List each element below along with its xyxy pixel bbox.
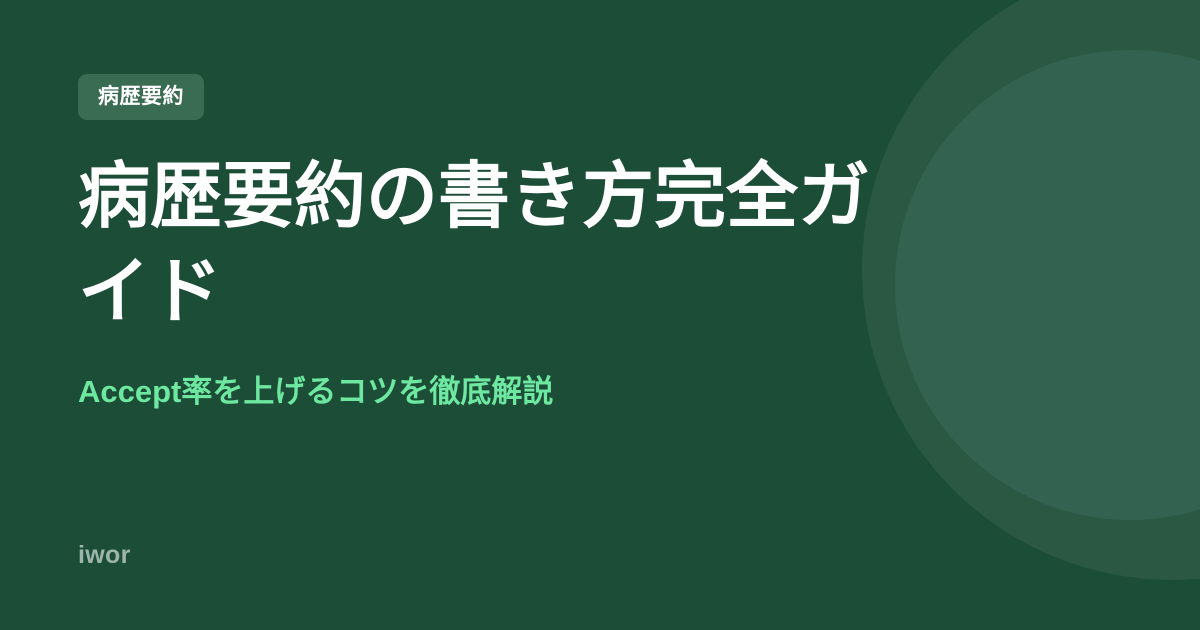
site-name-footer: iwor <box>78 543 1200 568</box>
category-badge: 病歴要約 <box>78 74 204 120</box>
page-subtitle: Accept率を上げるコツを徹底解説 <box>78 370 918 413</box>
page-title: 病歴要約の書き方完全ガイド <box>78 150 893 340</box>
card-content: 病歴要約 病歴要約の書き方完全ガイド Accept率を上げるコツを徹底解説 iw… <box>0 0 1200 630</box>
content-spacer <box>78 413 1200 543</box>
og-card: 病歴要約 病歴要約の書き方完全ガイド Accept率を上げるコツを徹底解説 iw… <box>0 0 1200 630</box>
